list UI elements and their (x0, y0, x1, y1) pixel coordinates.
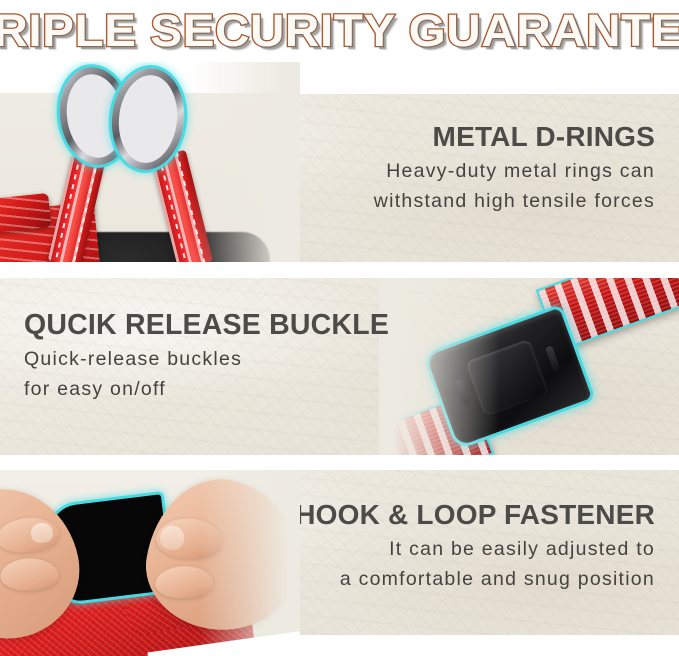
feature-text-quick-release-buckle: QUCIK RELEASE BUCKLE Quick-release buckl… (24, 310, 389, 404)
feature-body-line: Heavy-duty metal rings can (374, 156, 655, 186)
feature-body-line: for easy on/off (24, 374, 389, 404)
feature-image-quick-release-buckle (379, 278, 679, 455)
feature-body-line: a comfortable and snug position (295, 564, 655, 594)
feature-body-line: withstand high tensile forces (374, 186, 655, 216)
infographic-title-bar: TRIPLE SECURITY GUARANTEE (0, 0, 679, 62)
feature-body-line: Quick-release buckles (24, 344, 389, 374)
photo-fade-edge (379, 278, 499, 455)
page-title: TRIPLE SECURITY GUARANTEE (0, 8, 679, 54)
feature-text-hook-and-loop-fastener: HOOK & LOOP FASTENER It can be easily ad… (295, 500, 655, 594)
photo-fade-edge (190, 62, 300, 262)
feature-body-line: It can be easily adjusted to (295, 534, 655, 564)
feature-image-hook-and-loop-fastener (0, 470, 300, 656)
red-harness-panel-left-top (0, 193, 52, 233)
finger (0, 515, 60, 554)
fingernail (160, 525, 185, 550)
feature-heading: HOOK & LOOP FASTENER (295, 500, 655, 530)
feature-text-metal-d-rings: METAL D-RINGS Heavy-duty metal rings can… (374, 122, 655, 216)
feature-heading: METAL D-RINGS (374, 122, 655, 152)
finger (0, 558, 59, 591)
feature-image-metal-d-rings (0, 62, 300, 262)
feature-heading: QUCIK RELEASE BUCKLE (24, 310, 389, 340)
fingernail (30, 522, 54, 544)
photo-fade-edge (200, 470, 300, 656)
